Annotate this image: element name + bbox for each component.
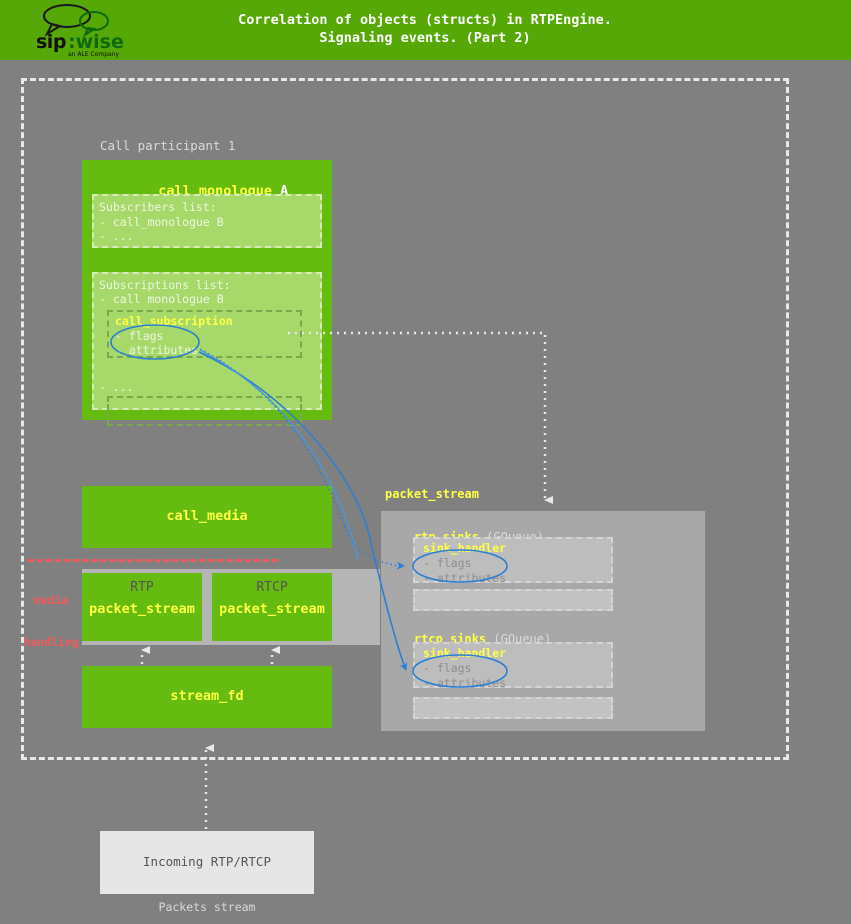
stream-fd-panel[interactable]: stream_fd [82,666,332,728]
rtcp-struct-label: packet_stream [212,601,332,617]
call-participant-label: Call participant 1 [100,138,235,153]
call-subscription-title: call_subscription [115,314,233,328]
rtp-sink-handler-box[interactable]: sink_handler - flags- attributes [413,537,613,583]
rtp-kind-label: RTP [82,580,202,595]
subscriptions-ellipsis: - ... [99,380,134,395]
subscriptions-heading: Subscriptions list: [99,278,231,293]
rtcp-sink-handler-box[interactable]: sink_handler - flags- attributes [413,642,613,688]
incoming-packets-box: Incoming RTP/RTCP [100,831,314,894]
rtcp-sink-flags: - flags [423,661,471,675]
subscribers-item-0: - call_monologue B [99,215,224,230]
call-media-panel[interactable]: call_media [82,486,332,548]
title-line-2: Signaling events. (Part 2) [160,29,690,47]
rtcp-kind-label: RTCP [212,580,332,595]
media-handling-line-2: handling [22,635,80,649]
svg-text:an ALE Company: an ALE Company [68,51,120,58]
rtp-struct-label: packet_stream [82,601,202,617]
call-subscription-empty-box [107,396,302,426]
app-header: sip :wise an ALE Company Correlation of … [0,0,851,60]
packet-stream-detail-panel: rtp_sinks (GQueue) sink_handler - flags-… [381,511,705,731]
call-subscription-flags: - flags [115,329,163,344]
subscriptions-list-box: Subscriptions list: - call monologue B c… [92,272,322,410]
rtp-sinks-empty-slot [413,589,613,611]
subscriptions-item-0: - call monologue B [99,292,224,307]
media-handling-label: media handling [22,565,80,663]
rtcp-sink-handler-lines: - flags- attributes [423,661,506,690]
subscribers-item-1: - ... [99,229,134,244]
rtp-sink-attributes: - attributes [423,571,506,585]
svg-text:sip: sip [36,31,66,53]
rtcp-sink-attributes: - attributes [423,676,506,690]
rtp-sink-handler-title: sink_handler [423,541,506,555]
call-subscription-attributes: - attributes [115,343,198,358]
packets-stream-caption: Packets stream [100,900,314,914]
call-subscription-box[interactable]: call_subscription - flags - attributes [107,310,302,358]
stream-fd-title: stream_fd [82,688,332,704]
page-title: Correlation of objects (structs) in RTPE… [160,11,690,47]
rtcp-packet-stream-box[interactable]: RTCP packet_stream [212,573,332,641]
rtcp-sinks-empty-slot [413,697,613,719]
sipwise-logo: sip :wise an ALE Company [30,2,130,58]
rtcp-sink-handler-title: sink_handler [423,646,506,660]
rtp-packet-stream-box[interactable]: RTP packet_stream [82,573,202,641]
media-handling-divider [28,559,278,562]
svg-text::wise: :wise [68,31,124,53]
title-line-1: Correlation of objects (structs) in RTPE… [160,11,690,29]
packet-stream-panel-label: packet_stream [385,487,479,501]
incoming-packets-label: Incoming RTP/RTCP [100,854,314,869]
call-media-title: call_media [82,508,332,524]
rtp-sink-flags: - flags [423,556,471,570]
subscribers-heading: Subscribers list: [99,200,217,215]
subscribers-list-box: Subscribers list: - call_monologue B - .… [92,194,322,248]
media-handling-line-1: media [22,593,80,607]
rtp-sink-handler-lines: - flags- attributes [423,556,506,585]
